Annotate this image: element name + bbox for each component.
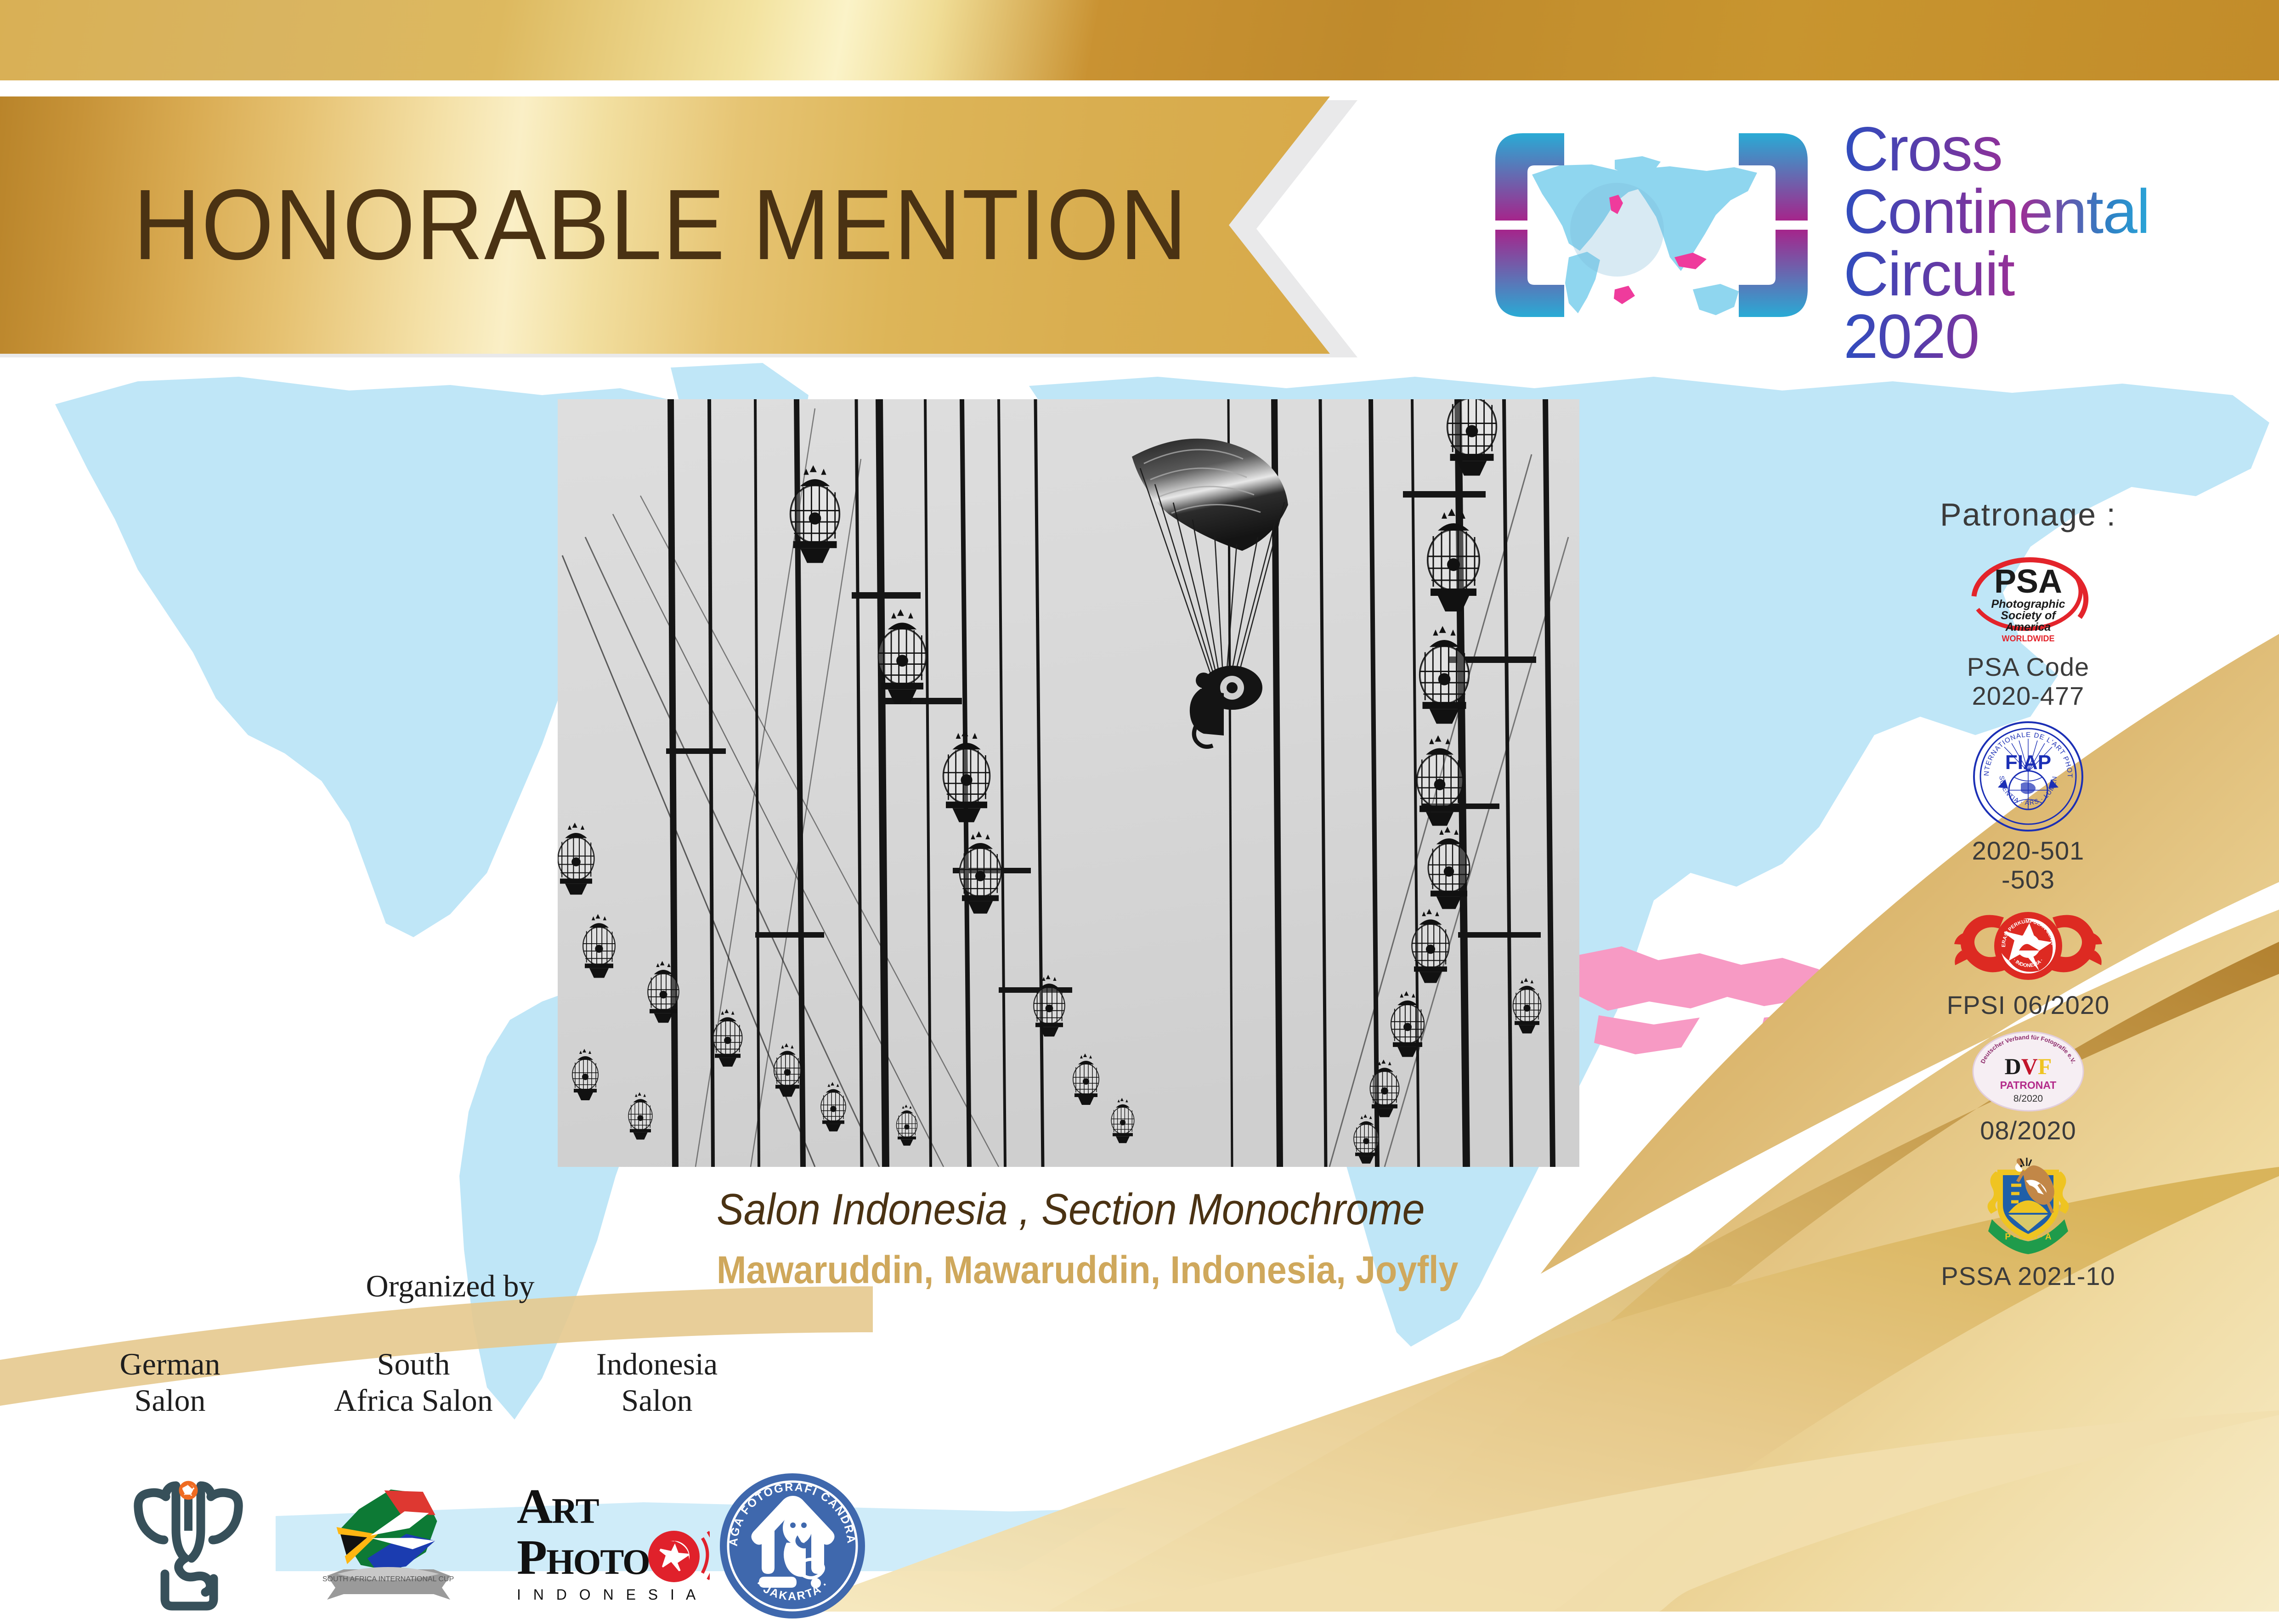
brand-line-4: 2020 (1844, 305, 2149, 368)
award-banner: HONORABLE MENTION (0, 96, 1355, 354)
patronage-item-psa: PSA Photographic Society of America WORL… (1920, 550, 2136, 710)
world-map-bracket-icon (1477, 106, 1826, 335)
dvf-logo-icon: Deutscher Verband für Fotografie e.V. DV… (1920, 1030, 2136, 1113)
organizer-german-salon: German Salon (92, 1346, 248, 1419)
svg-text:WORLDWIDE: WORLDWIDE (2002, 634, 2055, 643)
patronage-item-pssa: P · S · S · A PSSA 2021-10 (1920, 1155, 2136, 1291)
brand-logo: Cross Continental Circuit 2020 (1477, 106, 2149, 368)
winning-photograph (558, 399, 1579, 1167)
south-africa-ribbon-text: SOUTH AFRICA INTERNATIONAL CUP (322, 1575, 454, 1583)
aperture-icon (181, 1483, 196, 1498)
organized-by-label: Organized by (354, 1268, 547, 1304)
pssa-logo-icon: P · S · S · A (1920, 1155, 2136, 1258)
svg-text:Society of: Society of (2001, 609, 2057, 622)
dvf-initials: DVF (2005, 1053, 2052, 1079)
brand-wordmark: Cross Continental Circuit 2020 (1844, 118, 2149, 368)
organizers-section: Organized by German Salon South Africa S… (0, 1268, 988, 1608)
psa-code: PSA Code 2020-477 (1920, 653, 2136, 710)
pssa-shield-text: P · S · S · A (2005, 1232, 2052, 1242)
art-photo-word-photo: PHOTO (517, 1530, 650, 1585)
organizer-south-africa-salon: South Africa Salon (317, 1346, 510, 1419)
top-strip-shadow (0, 80, 2279, 83)
award-title: HONORABLE MENTION (133, 168, 1188, 283)
fpsi-logo-icon: FEDERASI PERKUMPULAN SENI FOTO · INDONES… (1920, 905, 2136, 987)
svg-text:Photographic: Photographic (1991, 598, 2065, 611)
dvf-code: 08/2020 (1920, 1116, 2136, 1145)
patronage-item-fpsi: FEDERASI PERKUMPULAN SENI FOTO · INDONES… (1920, 905, 2136, 1020)
brand-line-3: Circuit (1844, 243, 2149, 305)
aperture-icon (648, 1531, 710, 1582)
svg-text:8/2020: 8/2020 (2013, 1093, 2043, 1104)
top-gold-strip (0, 0, 2279, 80)
svg-text:PATRONAT: PATRONAT (2000, 1079, 2057, 1091)
lembaga-fotografi-candra-naya-icon: LEMBAGA FOTOGRAFI CANDRA NAYA · JAKARTA … (717, 1470, 868, 1624)
brand-line-1: Cross (1844, 118, 2149, 180)
brand-line-2: Continental (1844, 180, 2149, 243)
fpsi-code: FPSI 06/2020 (1920, 991, 2136, 1020)
psa-initials: PSA (1994, 563, 2062, 600)
patronage-label: Patronage : (1920, 496, 2136, 533)
art-photo-indonesia-icon: ART PHOTO I N D O N E S I A (512, 1475, 710, 1615)
patronage-column: Patronage : PSA Photographic Society of … (1920, 496, 2136, 1301)
south-africa-salon-flag-icon: SOUTH AFRICA INTERNATIONAL CUP (317, 1475, 459, 1615)
fiap-logo-icon: FEDERATION INTERNATIONALE DE L'ART PHOTO… (1920, 720, 2136, 833)
svg-text:America: America (2005, 621, 2051, 634)
organizer-logos: SOUTH AFRICA INTERNATIONAL CUP ART PHOTO (0, 1479, 988, 1608)
patronage-item-dvf: Deutscher Verband für Fotografie e.V. DV… (1920, 1030, 2136, 1145)
organizer-indonesia-salon: Indonesia Salon (565, 1346, 749, 1419)
art-photo-sub: I N D O N E S I A (517, 1586, 700, 1603)
patronage-item-fiap: FEDERATION INTERNATIONALE DE L'ART PHOTO… (1920, 720, 2136, 894)
caption-salon-section: Salon Indonesia , Section Monochrome (717, 1184, 1646, 1235)
psa-logo-icon: PSA Photographic Society of America WORL… (1920, 550, 2136, 649)
art-photo-word-art: ART (517, 1479, 599, 1534)
fiap-code: 2020-501 -503 (1920, 837, 2136, 894)
german-salon-trophy-icon (126, 1475, 250, 1615)
pssa-code: PSSA 2021-10 (1920, 1262, 2136, 1291)
